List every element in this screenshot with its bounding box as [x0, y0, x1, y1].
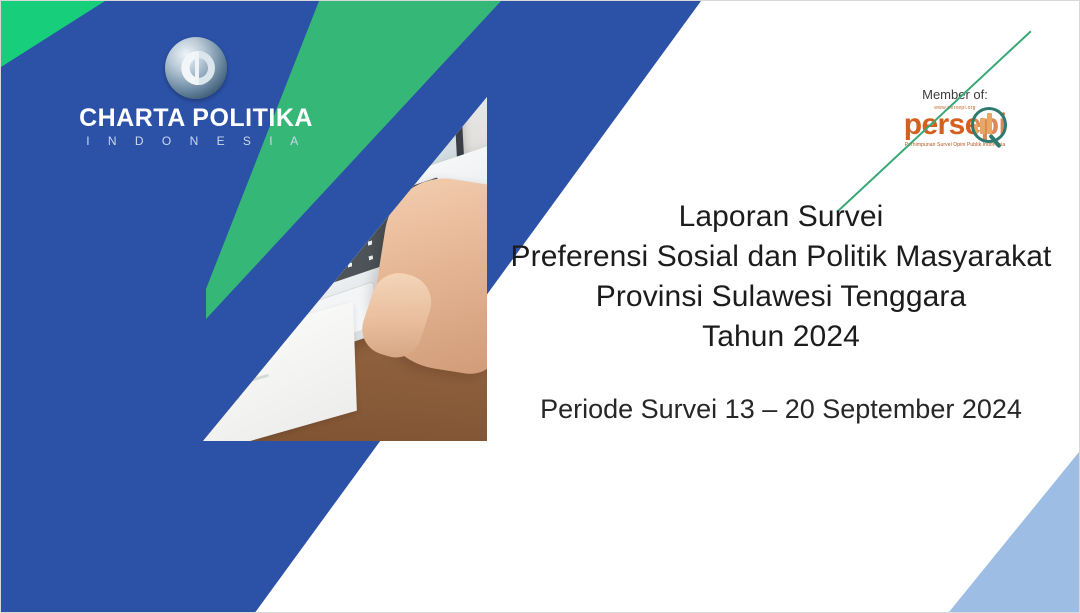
survey-period: Periode Survei 13 – 20 September 2024	[501, 391, 1061, 427]
persepi-member-badge: Member of: www.persepi.org persepi Perhi…	[885, 87, 1025, 148]
charta-politika-name: CHARTA POLITIKA	[61, 105, 331, 131]
charta-politika-subtitle: I N D O N E S I A	[61, 134, 331, 148]
title-line-2: Preferensi Sosial dan Politik Masyarakat	[501, 237, 1061, 277]
light-blue-corner-shape	[949, 452, 1079, 612]
title-slide: CHARTA POLITIKA I N D O N E S I A Member…	[0, 0, 1080, 613]
title-line-1: Laporan Survei	[501, 197, 1061, 237]
persepi-wordmark-row: persepi	[885, 109, 1025, 141]
page-title: Laporan Survei Preferensi Sosial dan Pol…	[501, 197, 1061, 357]
title-text-block: Laporan Survei Preferensi Sosial dan Pol…	[501, 197, 1061, 427]
title-line-4: Tahun 2024	[501, 317, 1061, 357]
charta-politika-mark-icon	[165, 37, 227, 99]
title-line-3: Provinsi Sulawesi Tenggara	[501, 277, 1061, 317]
cp-monogram-icon	[174, 46, 218, 90]
charta-politika-logo: CHARTA POLITIKA I N D O N E S I A	[61, 37, 331, 148]
